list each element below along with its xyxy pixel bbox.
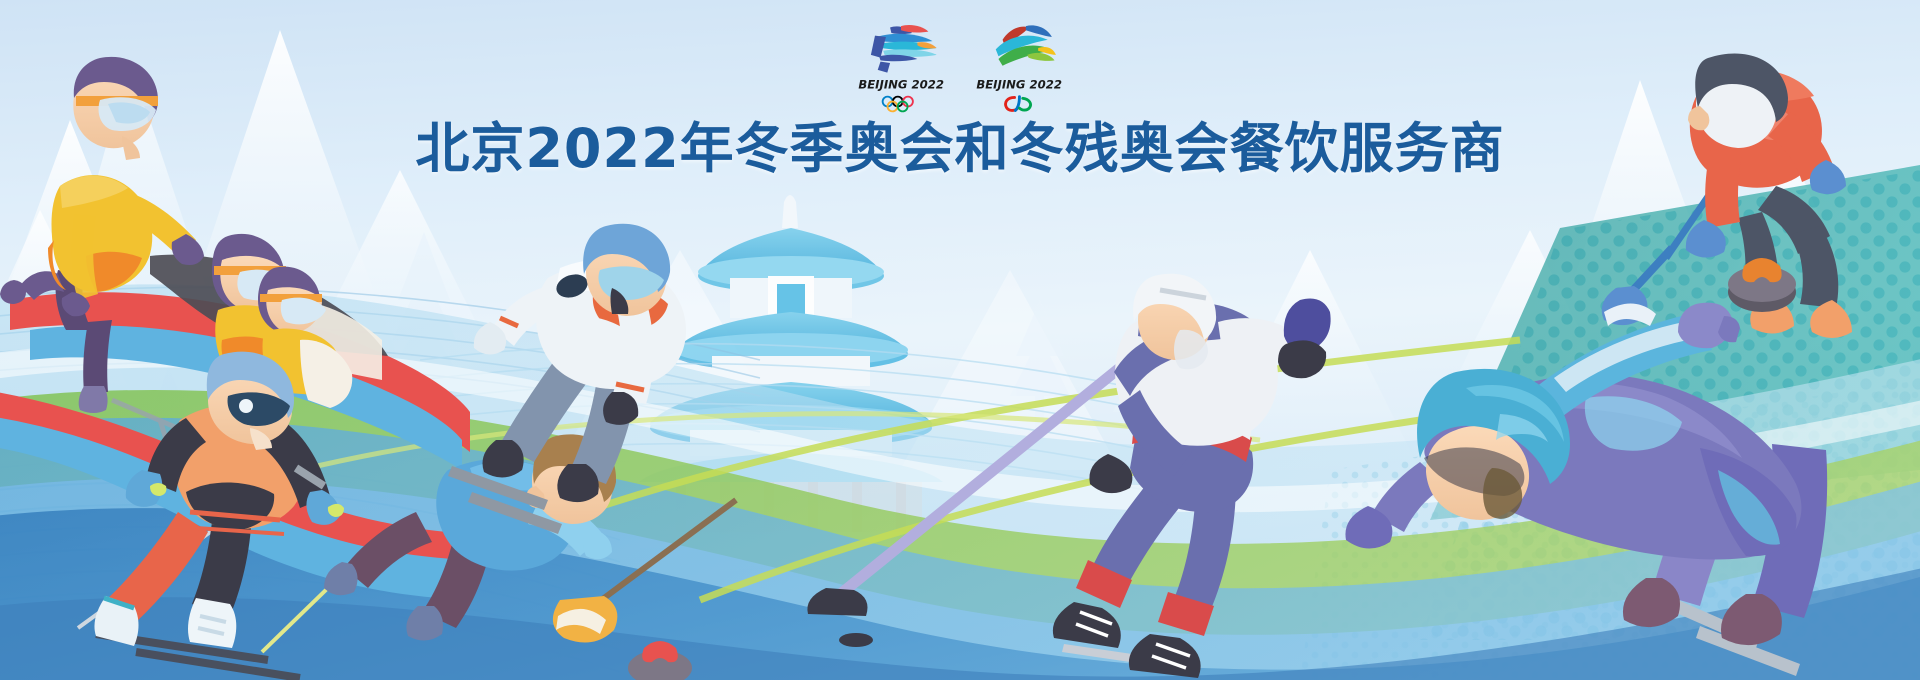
page-title: 北京2022年冬季奥会和冬残奥会餐饮服务商	[0, 118, 1920, 180]
athlete-speed-skater-white	[448, 224, 686, 534]
athlete-speed-skater-purple	[1345, 303, 1827, 676]
athlete-curler-sweeper-blue	[324, 434, 736, 642]
curling-stone-bottom	[628, 641, 692, 680]
olympic-banner: BEIJING 2022	[0, 0, 1920, 680]
curling-stone-right	[1728, 258, 1796, 312]
athlete-curler-sweeper-red	[1602, 53, 1852, 338]
athlete-ice-hockey-player	[807, 274, 1330, 678]
athlete-figures	[0, 0, 1920, 680]
